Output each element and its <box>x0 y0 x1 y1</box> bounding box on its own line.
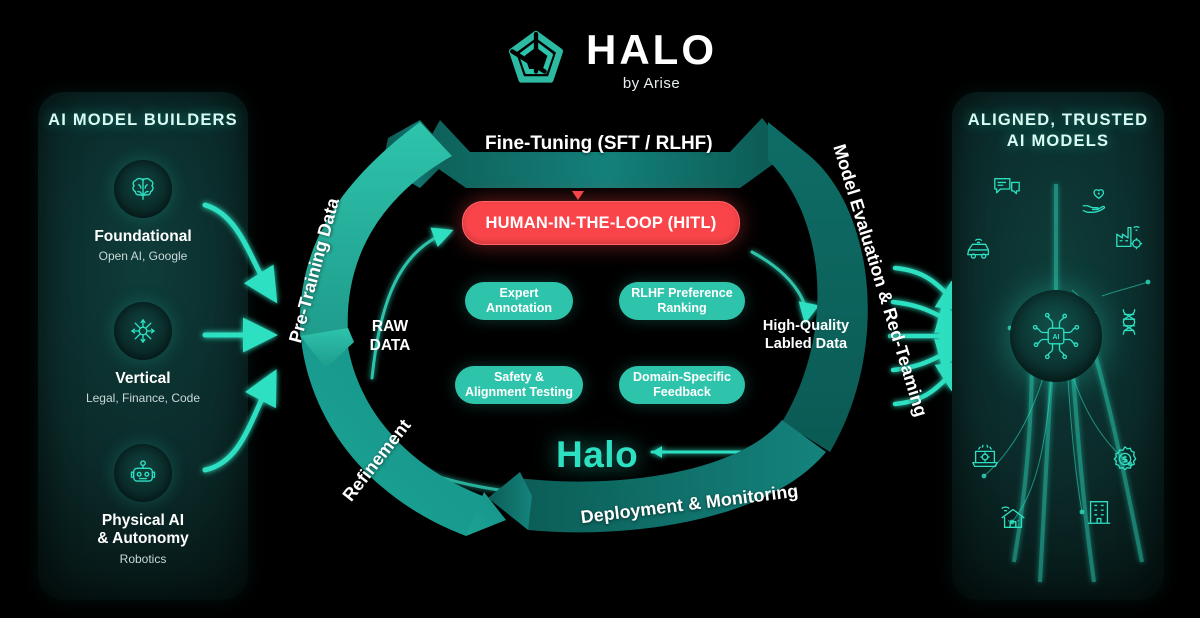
builder-sub: Robotics <box>38 552 248 566</box>
right-panel-title-line2: AI MODELS <box>1007 132 1109 150</box>
factory-gear-icon <box>1112 220 1146 254</box>
chat-bubbles-icon <box>990 172 1024 206</box>
chip-line1: Safety & <box>494 370 544 384</box>
left-panel-title: AI MODEL BUILDERS <box>38 110 248 131</box>
diagram-canvas: HALO by Arise AI MODEL BUILDERS Foundati… <box>0 0 1200 618</box>
brain-icon <box>114 160 172 218</box>
heart-in-hand-icon <box>1078 185 1112 219</box>
chip-line1: RLHF Preference <box>631 286 732 300</box>
dna-icon <box>1112 305 1146 339</box>
chip-safety-alignment-testing[interactable]: Safety &Alignment Testing <box>455 366 583 404</box>
pentagon-loop-logo-icon <box>500 24 572 96</box>
right-panel-title-line1: ALIGNED, TRUSTED <box>968 111 1149 129</box>
logo-wordmark: HALO <box>586 29 717 71</box>
builder-name: Vertical <box>38 370 248 388</box>
chip-line1: Domain-Specific <box>633 370 731 384</box>
raw-data-line2: DATA <box>370 337 411 354</box>
chip-line1: Expert <box>500 286 539 300</box>
builder-sub: Legal, Finance, Code <box>38 391 248 405</box>
raw-data-line1: RAW <box>372 318 408 335</box>
smart-home-wifi-icon <box>996 500 1030 534</box>
branching-arrows-icon <box>114 302 172 360</box>
gear-dollar-icon <box>1108 442 1142 476</box>
builder-name-line2: & Autonomy <box>97 530 189 547</box>
output-line1: High-Quality <box>763 318 849 334</box>
office-building-icon <box>1082 495 1116 529</box>
chip-line2: Annotation <box>486 301 552 315</box>
right-panel-title: ALIGNED, TRUSTED AI MODELS <box>952 110 1164 151</box>
builder-physical-ai[interactable]: Physical AI & Autonomy Robotics <box>38 444 248 566</box>
builder-name: Physical AI & Autonomy <box>38 512 248 549</box>
ai-hub-node[interactable]: AI <box>1010 290 1102 382</box>
raw-data-label: RAW DATA <box>350 318 430 355</box>
builder-sub: Open AI, Google <box>38 249 248 263</box>
chip-domain-specific-feedback[interactable]: Domain-SpecificFeedback <box>619 366 745 404</box>
chip-line2: Feedback <box>653 385 711 399</box>
builder-vertical[interactable]: Vertical Legal, Finance, Code <box>38 302 248 405</box>
logo-tagline: by Arise <box>586 75 717 92</box>
halo-center-word: Halo <box>556 434 638 476</box>
high-quality-labeled-data-label: High-Quality Labled Data <box>746 318 866 354</box>
ring-segment-model-evaluation[interactable] <box>768 122 868 452</box>
robot-icon <box>114 444 172 502</box>
chip-line2: Alignment Testing <box>465 385 573 399</box>
builder-foundational[interactable]: Foundational Open AI, Google <box>38 160 248 263</box>
chip-expert-annotation[interactable]: ExpertAnnotation <box>465 282 573 320</box>
ring-segment-deployment[interactable] <box>488 420 826 532</box>
hitl-badge[interactable]: HUMAN-IN-THE-LOOP (HITL) <box>462 201 740 245</box>
halo-logo: HALO by Arise <box>500 22 710 98</box>
svg-text:AI: AI <box>1053 334 1060 341</box>
car-wifi-icon <box>962 232 996 266</box>
ai-chip-icon: AI <box>1030 310 1082 362</box>
chip-line2: Ranking <box>657 301 706 315</box>
laptop-gear-icon <box>968 440 1002 474</box>
output-line2: Labled Data <box>765 336 847 352</box>
ai-model-builders-panel: AI MODEL BUILDERS Foundational Open AI, … <box>38 92 248 600</box>
builder-name-line1: Physical AI <box>102 512 184 529</box>
chip-rlhf-preference-ranking[interactable]: RLHF PreferenceRanking <box>619 282 745 320</box>
builder-name: Foundational <box>38 228 248 246</box>
